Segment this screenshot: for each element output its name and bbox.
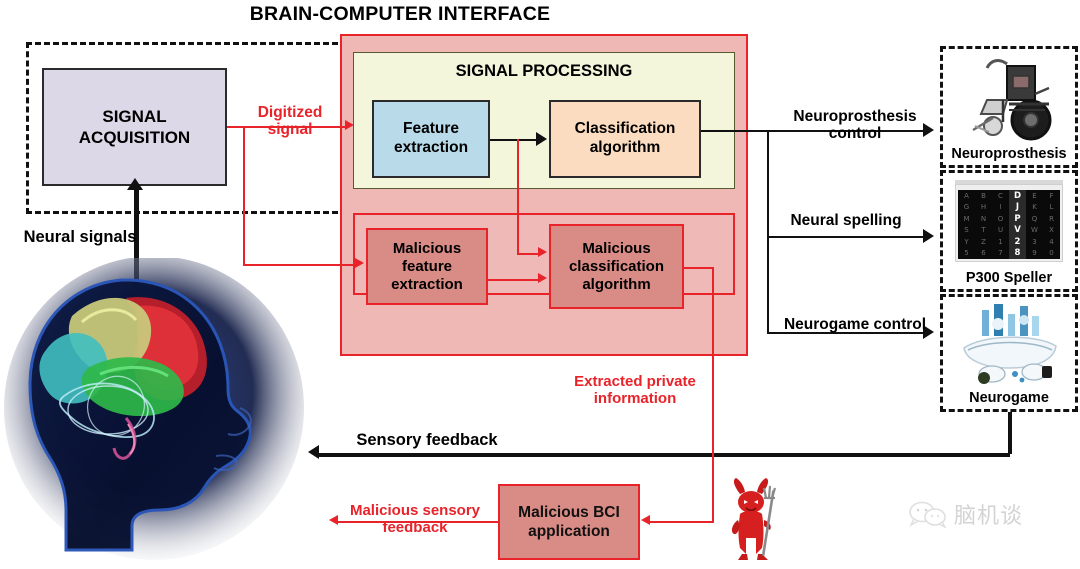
speller-cell: U [992,225,1009,237]
extracted-private-information-label: Extracted private information [540,374,730,408]
speller-cell: 7 [992,248,1009,260]
feature-tap-vertical [517,139,519,253]
extracted-info-line-from-classifier [684,267,714,269]
speller-cell: K [1026,202,1043,214]
sensory-feedback-horizontal [318,453,1010,457]
watermark-text: 脑机谈 [954,498,1023,530]
signal-processing-title: SIGNAL PROCESSING [353,62,735,80]
neuroprosthesis-control-label: Neuroprosthesis control [770,108,940,143]
diagram-canvas: BRAIN-COMPUTER INTERFACE SIGNAL PROCESSI… [0,0,1080,569]
watermark: 脑机谈 [908,492,1076,536]
neurogame-control-label: Neurogame control [770,316,940,333]
feature-tap-arrowhead [538,247,547,257]
speller-grid-cells: ABCDEFGHIJKLMNOPQRSTUVWXYZ1234567890 [958,190,1060,259]
neural-spelling-branch-line [767,236,925,238]
sensory-feedback-label: Sensory feedback [352,431,502,449]
speller-cell: 2 [1009,236,1026,248]
feature-to-classification-arrowhead [536,132,547,146]
extracted-info-arrowhead [641,515,650,525]
brain-head-illustration [4,258,334,569]
speller-cell: M [958,213,975,225]
digitized-signal-malicious-arrowhead [355,258,364,268]
p300-speller-caption: P300 Speller [940,270,1078,286]
speller-cell: E [1026,190,1043,202]
output-bus-vertical [767,130,769,332]
sensory-feedback-vertical [1008,412,1012,454]
speller-cell: D [1009,190,1026,202]
neural-signals-arrowhead [127,178,143,190]
signal-acquisition-label: SIGNALACQUISITION [79,106,190,149]
speller-cell: S [958,225,975,237]
neural-spelling-label: Neural spelling [776,212,916,229]
speller-cell: J [1009,202,1026,214]
wheelchair-icon [963,52,1059,144]
speller-cell: C [992,190,1009,202]
speller-cell: 4 [1043,236,1060,248]
malicious-sensory-feedback-label: Malicious sensory feedback [330,503,500,537]
speller-cell: B [975,190,992,202]
speller-cell: 5 [958,248,975,260]
devil-icon [722,476,784,562]
speller-cell: 0 [1043,248,1060,260]
speller-cell: Z [975,236,992,248]
neural-signals-label: Neural signals [0,228,160,246]
speller-cell: Q [1026,213,1043,225]
feature-to-classification-line [490,139,538,141]
speller-cell: G [958,202,975,214]
malicious-bci-application-box[interactable]: Malicious BCI application [498,484,640,560]
speller-cell: R [1043,213,1060,225]
gamepad-icon [958,300,1062,386]
signal-acquisition-box[interactable]: SIGNALACQUISITION [42,68,227,186]
classification-output-line [701,130,767,132]
speller-cell: 6 [975,248,992,260]
speller-cell: 3 [1026,236,1043,248]
wechat-icon [908,499,948,529]
speller-cell: X [1043,225,1060,237]
speller-cell: 9 [1026,248,1043,260]
malicious-classification-algorithm-label: Malicious classification algorithm [551,240,682,294]
speller-cell: T [975,225,992,237]
speller-cell: O [992,213,1009,225]
malicious-classification-algorithm-box[interactable]: Malicious classification algorithm [549,224,684,309]
speller-cell: I [992,202,1009,214]
malicious-feature-to-classification-line [488,279,540,281]
digitized-signal-label: Digitized signal [234,104,346,139]
digitized-signal-branch-vertical [243,126,245,264]
digitized-signal-arrowhead [345,120,354,130]
feature-extraction-box[interactable]: Feature extraction [372,100,490,178]
neural-spelling-arrowhead [923,229,934,243]
classification-algorithm-box[interactable]: Classification algorithm [549,100,701,178]
malicious-feature-extraction-box[interactable]: Malicious feature extraction [366,228,488,305]
feature-extraction-label: Feature extraction [374,120,488,157]
neurogame-caption: Neurogame [940,390,1078,406]
malicious-feature-extraction-label: Malicious feature extraction [368,240,486,294]
speller-cell: N [975,213,992,225]
speller-cell: P [1009,213,1026,225]
speller-cell: Y [958,236,975,248]
speller-cell: 1 [992,236,1009,248]
page-title: BRAIN-COMPUTER INTERFACE [150,4,650,26]
speller-cell: F [1043,190,1060,202]
speller-cell: 8 [1009,248,1026,260]
speller-cell: A [958,190,975,202]
malicious-bci-application-label: Malicious BCI application [500,503,638,542]
neuroprosthesis-caption: Neuroprosthesis [940,146,1078,162]
malicious-feature-to-classification-arrowhead [538,273,547,283]
speller-cell: H [975,202,992,214]
speller-cell: L [1043,202,1060,214]
speller-grid-icon[interactable]: ABCDEFGHIJKLMNOPQRSTUVWXYZ1234567890 [955,184,1063,262]
extracted-info-into-app-line [650,521,714,523]
speller-cell: W [1026,225,1043,237]
classification-algorithm-label: Classification algorithm [551,120,699,157]
speller-cell: V [1009,225,1026,237]
